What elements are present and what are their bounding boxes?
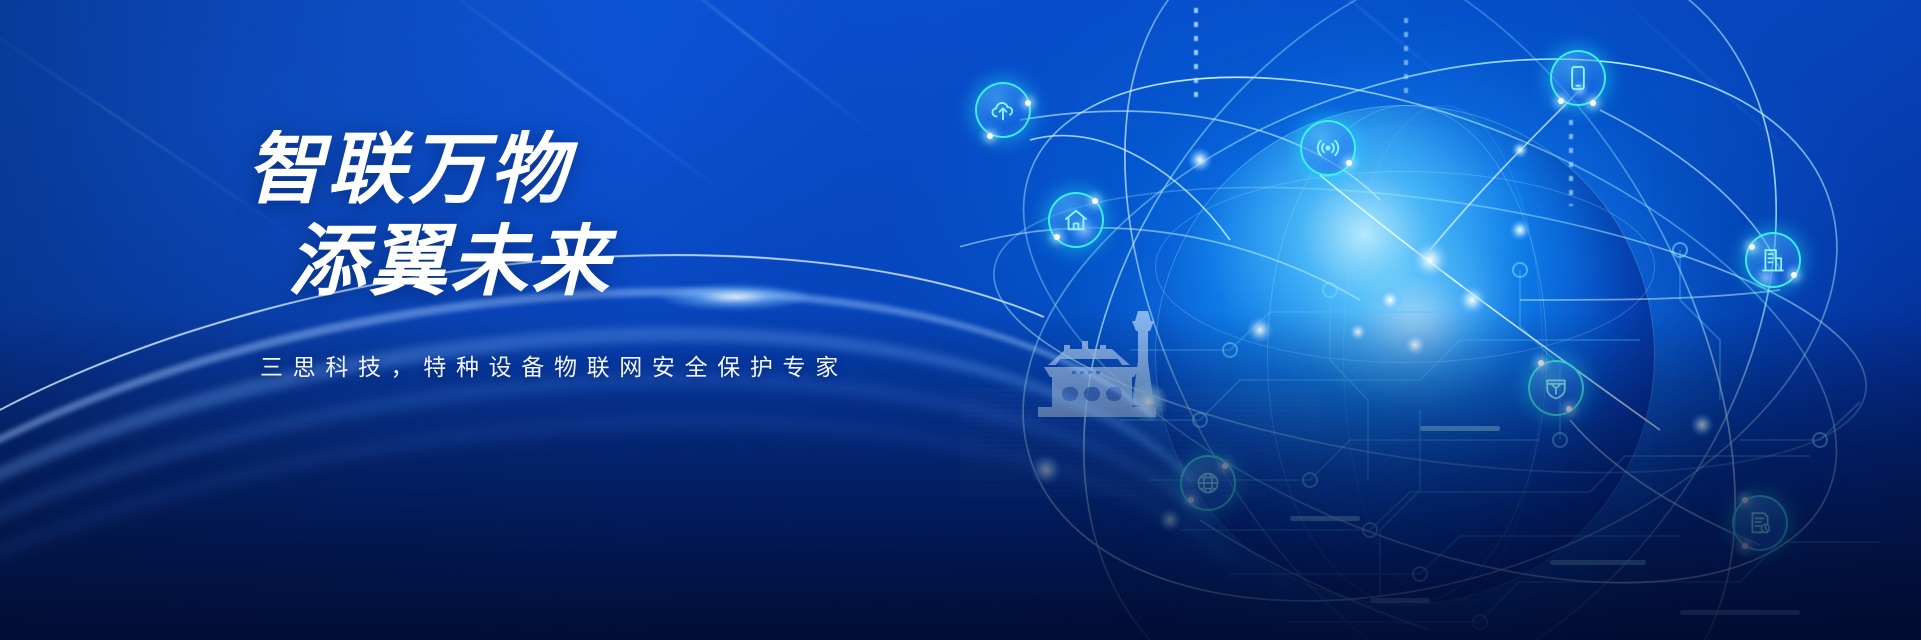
globe-longitude-arc-2 [1343, 105, 1543, 605]
pagoda-top-spark [1128, 382, 1168, 422]
wifi-signal-icon[interactable] [1300, 120, 1356, 176]
headline-line-1: 智联万物 [246, 130, 1006, 208]
building-icon[interactable] [1745, 232, 1801, 288]
home-icon[interactable] [1048, 192, 1104, 248]
dotted-beam-right [1569, 120, 1573, 206]
hero-banner: 智联万物 添翼未来 三思科技，特种设备物联网安全保护专家 [0, 0, 1921, 640]
globe-rim [1155, 105, 1655, 605]
pagoda-silhouette [1020, 305, 1190, 425]
document-report-icon[interactable] [1732, 495, 1788, 551]
shield-icon[interactable] [1528, 360, 1584, 416]
headline-line-2: 添翼未来 [288, 222, 1006, 300]
copy-block: 智联万物 添翼未来 三思科技，特种设备物联网安全保护专家 [246, 130, 1006, 382]
water-reflection [960, 390, 1320, 500]
globe-longitude-arc [1267, 105, 1547, 605]
globe-core-glow [1310, 230, 1520, 410]
globe-sphere [1155, 105, 1655, 605]
globe-network-icon[interactable] [1180, 455, 1236, 511]
circuit-trace-pattern [1120, 230, 1880, 640]
mobile-phone-icon[interactable] [1550, 50, 1606, 106]
subtitle: 三思科技，特种设备物联网安全保护专家 [260, 348, 1006, 382]
dotted-beam-left [1194, 0, 1198, 104]
dotted-beam-mid [1404, 18, 1408, 96]
network-globe [1095, 55, 1735, 640]
globe-latitude-arc [1155, 171, 1655, 363]
